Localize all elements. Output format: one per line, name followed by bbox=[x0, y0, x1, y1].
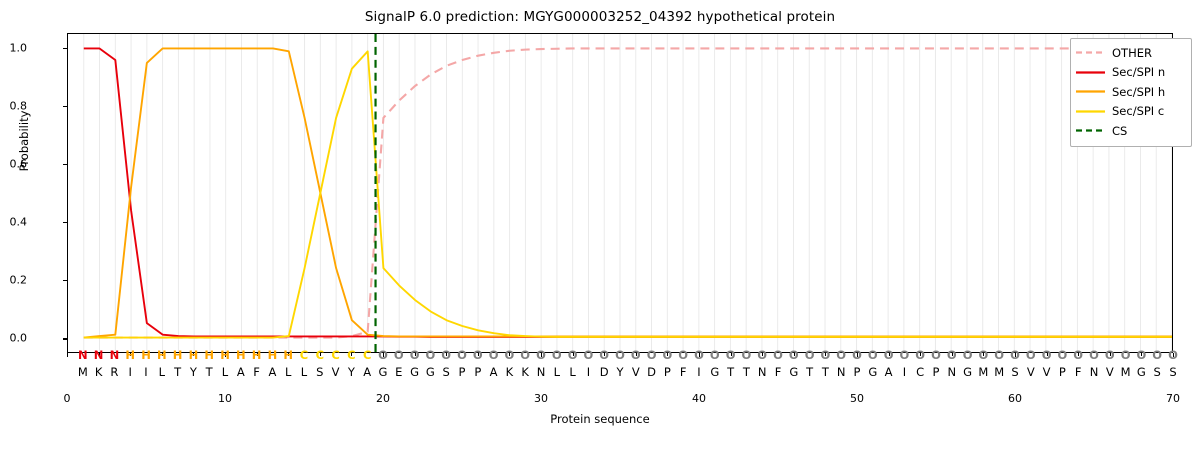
y-tick-mark bbox=[63, 222, 67, 223]
y-tick-mark bbox=[63, 338, 67, 339]
y-tick-mark bbox=[63, 48, 67, 49]
legend-item-sec-spi-c[interactable]: Sec/SPI c bbox=[1076, 102, 1186, 122]
x-tick-mark bbox=[67, 353, 68, 357]
x-tick-label: 70 bbox=[1153, 392, 1193, 405]
x-tick-label: 30 bbox=[521, 392, 561, 405]
y-tick-mark bbox=[63, 106, 67, 107]
residue-amino-acid: S bbox=[1160, 365, 1186, 379]
legend-item-cs[interactable]: CS bbox=[1076, 121, 1186, 141]
x-tick-label: 10 bbox=[205, 392, 245, 405]
legend-swatch-icon bbox=[1076, 86, 1105, 97]
legend-label: Sec/SPI c bbox=[1112, 104, 1164, 118]
residue-region-label: O bbox=[1160, 348, 1186, 362]
y-tick-mark bbox=[63, 280, 67, 281]
x-tick-label: 50 bbox=[837, 392, 877, 405]
legend-item-other[interactable]: OTHER bbox=[1076, 43, 1186, 63]
y-tick-label: 0.6 bbox=[0, 157, 27, 170]
y-tick-label: 0.4 bbox=[0, 216, 27, 229]
legend-label: OTHER bbox=[1112, 46, 1152, 60]
data-layer bbox=[68, 34, 1172, 352]
legend-swatch-icon bbox=[1076, 125, 1105, 136]
x-axis-label: Protein sequence bbox=[0, 412, 1200, 426]
y-tick-label: 1.0 bbox=[0, 41, 27, 54]
y-axis-label: Probability bbox=[17, 61, 31, 221]
legend: OTHERSec/SPI nSec/SPI hSec/SPI cCS bbox=[1070, 38, 1192, 147]
x-tick-label: 20 bbox=[363, 392, 403, 405]
y-tick-label: 0.2 bbox=[0, 274, 27, 287]
legend-swatch-icon bbox=[1076, 106, 1105, 117]
y-tick-label: 0.8 bbox=[0, 99, 27, 112]
plot-area bbox=[67, 33, 1173, 353]
series-line-sec-spi-n bbox=[84, 48, 1172, 337]
legend-label: CS bbox=[1112, 124, 1127, 138]
x-tick-label: 0 bbox=[47, 392, 87, 405]
legend-item-sec-spi-h[interactable]: Sec/SPI h bbox=[1076, 82, 1186, 102]
y-tick-label: 0.0 bbox=[0, 332, 27, 345]
page-title: SignalP 6.0 prediction: MGYG000003252_04… bbox=[0, 9, 1200, 25]
legend-swatch-icon bbox=[1076, 47, 1105, 58]
series-line-other bbox=[84, 48, 1172, 337]
legend-swatch-icon bbox=[1076, 67, 1105, 78]
x-tick-label: 40 bbox=[679, 392, 719, 405]
signalp-prediction-figure: SignalP 6.0 prediction: MGYG000003252_04… bbox=[0, 0, 1200, 450]
y-tick-mark bbox=[63, 164, 67, 165]
legend-label: Sec/SPI h bbox=[1112, 85, 1165, 99]
series-line-sec-spi-h bbox=[84, 48, 1172, 337]
x-tick-label: 60 bbox=[995, 392, 1035, 405]
legend-item-sec-spi-n[interactable]: Sec/SPI n bbox=[1076, 63, 1186, 83]
series-line-sec-spi-c bbox=[84, 51, 1172, 337]
legend-label: Sec/SPI n bbox=[1112, 65, 1165, 79]
